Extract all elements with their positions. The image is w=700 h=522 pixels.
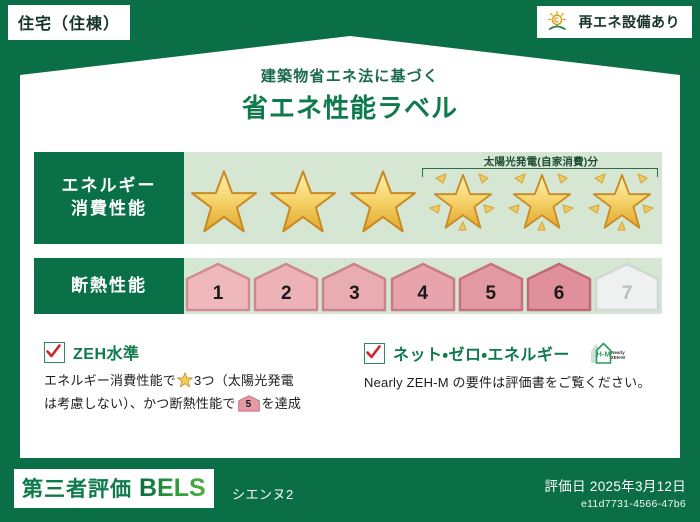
renewable-energy-badge: 再エネ設備あり	[537, 6, 693, 38]
insulation-performance-row: 断熱性能 1 2	[34, 258, 662, 314]
label-footer: 第三者評価 BELS シエンヌ2 評価日 2025年3月12日 e11d7731…	[0, 460, 700, 522]
zeh-criteria-column: ZEH水準 エネルギー消費性能で3つ（太陽光発電は考慮しない）、かつ断熱性能で5…	[44, 340, 356, 418]
inline-house-badge: 5	[238, 395, 260, 418]
zeh-star-count: 3つ（太陽光発電	[194, 373, 294, 388]
zeh-heading: ZEH水準	[44, 340, 356, 364]
check-icon	[366, 345, 381, 360]
star-item	[264, 164, 344, 240]
energy-performance-label: 建築物省エネ法に基づく 省エネ性能ラベル エネルギー 消費性能 太陽光発電(自家…	[0, 0, 700, 522]
netzero-criteria-column: ネット・ゼロ・エネルギー H-M Nearly ZEH-M Nearly ZEH…	[364, 340, 676, 393]
netzero-heading: ネット・ゼロ・エネルギー H-M Nearly ZEH-M	[364, 340, 676, 366]
star-icon	[433, 173, 493, 231]
star-icon	[269, 169, 337, 235]
housing-type-tag: 住宅（住棟）	[8, 5, 130, 40]
insulation-level-5: 5	[457, 258, 525, 314]
energy-stars-panel: 太陽光発電(自家消費)分	[184, 152, 662, 244]
insulation-level-2: 2	[252, 258, 320, 314]
insulation-label-panel: 断熱性能	[34, 258, 184, 314]
zeh-text-part1: エネルギー消費性能で	[44, 373, 176, 388]
netzero-checkbox	[364, 343, 385, 364]
label-subtitle: 建築物省エネ法に基づく	[20, 65, 680, 86]
zeh-m-logo: H-M Nearly ZEH-M	[582, 340, 628, 366]
third-party-evaluation-label: 第三者評価	[22, 473, 132, 503]
insulation-level-value: 5	[457, 278, 525, 310]
zeh-m-house-icon: H-M Nearly ZEH-M	[582, 340, 628, 366]
insulation-label: 断熱性能	[71, 275, 147, 298]
bels-logo: BELS	[139, 474, 206, 503]
insulation-level-value: 3	[320, 278, 388, 310]
star-icon	[349, 169, 417, 235]
insulation-level-value: 2	[252, 278, 320, 310]
zeh-title: ZEH水準	[73, 340, 140, 364]
netzero-title: ネット・ゼロ・エネルギー	[393, 341, 570, 365]
zeh-checkbox	[44, 342, 65, 363]
evaluation-info: 評価日 2025年3月12日 e11d7731-4566-47b6	[544, 475, 686, 510]
energy-label-line2: 消費性能	[71, 198, 147, 221]
netzero-description: Nearly ZEH-M の要件は評価書をご覧ください。	[364, 373, 676, 393]
star-rating	[184, 164, 662, 240]
solar-sun-icon	[546, 10, 572, 34]
evaluation-id: e11d7731-4566-47b6	[544, 498, 686, 510]
zeh-description: エネルギー消費性能で3つ（太陽光発電は考慮しない）、かつ断熱性能で5を達成	[44, 371, 356, 418]
energy-label-line1: エネルギー	[62, 175, 157, 198]
star-icon	[592, 173, 652, 231]
criteria-columns: ZEH水準 エネルギー消費性能で3つ（太陽光発電は考慮しない）、かつ断熱性能で5…	[34, 340, 668, 440]
insulation-level-scale: 1 2 3	[184, 258, 662, 314]
insulation-level-value: 1	[184, 278, 252, 310]
star-item-solar	[502, 164, 582, 240]
star-icon	[512, 173, 572, 231]
insulation-level-7: 7	[593, 258, 661, 314]
insulation-level-1: 1	[184, 258, 252, 314]
energy-performance-label-panel: エネルギー 消費性能	[34, 152, 184, 244]
inline-house-value: 5	[238, 397, 260, 412]
zeh-text-part2: は考慮しない）、かつ断熱性能で	[44, 396, 236, 411]
label-title: 省エネ性能ラベル	[20, 88, 680, 125]
star-item	[343, 164, 423, 240]
evaluation-date: 評価日 2025年3月12日	[544, 475, 686, 495]
inline-star-icon	[177, 372, 193, 394]
label-card: 建築物省エネ法に基づく 省エネ性能ラベル エネルギー 消費性能 太陽光発電(自家…	[20, 18, 680, 458]
insulation-level-value: 4	[389, 278, 457, 310]
check-icon	[46, 344, 61, 359]
star-icon	[190, 169, 258, 235]
insulation-level-4: 4	[389, 258, 457, 314]
star-item-solar	[582, 164, 662, 240]
insulation-level-3: 3	[320, 258, 388, 314]
bels-plate: 第三者評価 BELS	[14, 469, 214, 508]
svg-text:H-M: H-M	[596, 350, 610, 359]
energy-performance-row: エネルギー 消費性能 太陽光発電(自家消費)分	[34, 152, 662, 244]
renewable-badge-label: 再エネ設備あり	[579, 12, 681, 32]
insulation-level-6: 6	[525, 258, 593, 314]
zeh-text-part3: を達成	[262, 396, 302, 411]
star-item-solar	[423, 164, 503, 240]
insulation-level-value: 6	[525, 278, 593, 310]
svg-text:ZEH-M: ZEH-M	[611, 355, 625, 360]
insulation-level-value: 7	[593, 278, 661, 310]
star-item	[184, 164, 264, 240]
building-name: シエンヌ2	[232, 484, 294, 503]
insulation-levels-panel: 1 2 3	[184, 258, 662, 314]
